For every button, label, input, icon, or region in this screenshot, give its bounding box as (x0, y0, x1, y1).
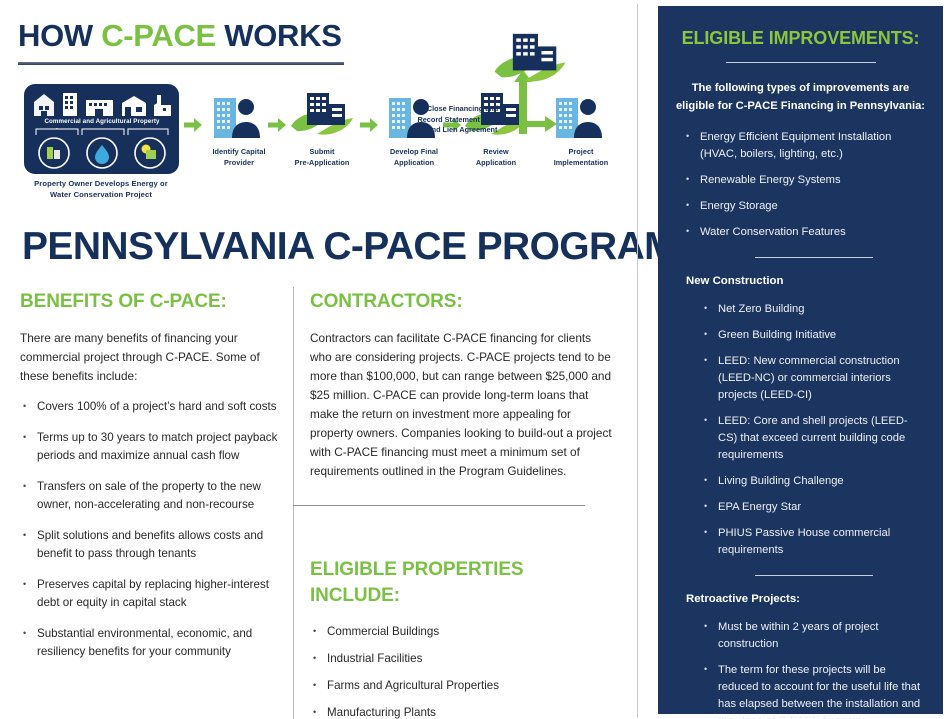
title-underline (18, 62, 344, 65)
list-item: Net Zero Building (704, 301, 925, 318)
building-person-icon (208, 90, 270, 142)
step-3-line2: Application (394, 158, 434, 167)
list-item: Manufacturing Plants (310, 704, 612, 719)
retroactive-heading: Retroactive Projects: (686, 593, 943, 605)
close-note-line3: and Lien Agreement (428, 125, 498, 134)
page-title-part2: WORKS (216, 18, 342, 53)
arrow-right-icon-1 (184, 118, 202, 132)
step-label-3: Develop Final Application (378, 147, 450, 168)
step-identify-capital-provider: Identify Capital Provider (203, 90, 275, 168)
list-item: Preserves capital by replacing higher-in… (20, 576, 278, 612)
list-item: The term for these projects will be redu… (704, 662, 925, 719)
step-label-1: Identify Capital Provider (203, 147, 275, 168)
new-construction-list: Net Zero Building Green Building Initiat… (704, 301, 925, 559)
list-item: Energy Storage (686, 198, 925, 215)
list-item: Industrial Facilities (310, 650, 612, 668)
eligible-properties-list: Commercial Buildings Industrial Faciliti… (310, 623, 612, 719)
step-2-line2: Pre-Application (295, 158, 350, 167)
step-4-line1: Review (483, 147, 508, 156)
property-owner-box: Commercial and Agricultural Property (24, 84, 179, 174)
panel-divider-3 (755, 575, 873, 576)
step-submit-pre-application: Submit Pre-Application (285, 88, 359, 168)
list-item: Split solutions and benefits allows cost… (20, 527, 278, 563)
list-item: Renewable Energy Systems (686, 172, 925, 189)
column-divider-vertical (293, 287, 294, 719)
contractors-heading: CONTRACTORS: (310, 290, 612, 314)
program-title: PENNSYLVANIA C-PACE PROGRAM (22, 225, 676, 269)
panel-divider-2 (755, 257, 873, 258)
list-item: Substantial environmental, economic, and… (20, 625, 278, 661)
list-item: Green Building Initiative (704, 327, 925, 344)
eligible-properties-heading: ELIGIBLE PROPERTIES INCLUDE: (310, 557, 560, 609)
infographic-page: HOW C-PACE WORKS (0, 0, 950, 719)
close-financing-note: Close Financing and Record Statement of … (395, 104, 530, 136)
benefits-heading: BENEFITS OF C-PACE: (20, 290, 278, 314)
list-item: Living Building Challenge (704, 473, 925, 490)
step-1-line1: Identify Capital (212, 147, 265, 156)
building-person-icon (550, 90, 612, 142)
arrow-right-icon-2 (268, 118, 286, 132)
close-note-line1: Close Financing and (427, 104, 498, 113)
step-label-2: Submit Pre-Application (285, 147, 359, 168)
buildings-label: Commercial and Agricultural Property (28, 118, 176, 125)
retroactive-list: Must be within 2 years of project constr… (704, 619, 925, 719)
owner-caption-line1: Property Owner Develops Energy or (34, 179, 168, 188)
step-label-4: Review Application (459, 147, 533, 168)
arrow-right-icon-3 (360, 118, 378, 132)
list-item: PHIUS Passive House commercial requireme… (704, 525, 925, 559)
column-divider-horizontal (293, 505, 585, 506)
process-flow-diagram: Commercial and Agricultural Property (0, 70, 637, 215)
list-item: Water Conservation Features (686, 224, 925, 241)
list-item: Commercial Buildings (310, 623, 612, 641)
step-2-line1: Submit (309, 147, 334, 156)
step-1-line2: Provider (224, 158, 254, 167)
benefits-intro: There are many benefits of financing you… (20, 329, 278, 386)
page-title: HOW C-PACE WORKS (18, 18, 342, 54)
benefits-list: Covers 100% of a project’s hard and soft… (20, 398, 278, 661)
conservation-cycle-icons (34, 136, 170, 170)
improvements-list: Energy Efficient Equipment Installation … (686, 129, 925, 241)
list-item: EPA Energy Star (704, 499, 925, 516)
panel-subtitle: The following types of improvements are … (672, 79, 929, 115)
list-item: LEED: New commercial construction (LEED-… (704, 353, 925, 404)
building-leaf-icon (287, 88, 357, 142)
step-5-line2: Implementation (554, 158, 609, 167)
eligible-improvements-panel: ELIGIBLE IMPROVEMENTS: The following typ… (658, 6, 943, 714)
step-5-line1: Project (568, 147, 593, 156)
panel-title: ELIGIBLE IMPROVEMENTS: (670, 28, 931, 49)
owner-caption: Property Owner Develops Energy or Water … (10, 178, 192, 200)
list-item: Terms up to 30 years to match project pa… (20, 429, 278, 465)
step-4-line2: Application (476, 158, 516, 167)
building-leaf-icon (490, 28, 570, 90)
list-item: LEED: Core and shell projects (LEED-CS) … (704, 413, 925, 464)
list-item: Covers 100% of a project’s hard and soft… (20, 398, 278, 416)
step-label-5: Project Implementation (542, 147, 620, 168)
list-item: Transfers on sale of the property to the… (20, 478, 278, 514)
main-content-area: HOW C-PACE WORKS (0, 0, 637, 719)
new-construction-heading: New Construction (686, 275, 943, 287)
panel-divider-1 (726, 62, 876, 63)
page-title-part1: HOW (18, 18, 101, 53)
close-note-line2: Record Statement of Levy (417, 115, 507, 124)
list-item: Must be within 2 years of project constr… (704, 619, 925, 653)
benefits-column: BENEFITS OF C-PACE: There are many benef… (20, 290, 278, 674)
property-building-icons (30, 91, 173, 117)
bracket-connectors (34, 128, 170, 135)
list-item: Farms and Agricultural Properties (310, 677, 612, 695)
page-title-accent: C-PACE (101, 18, 216, 53)
list-item: Energy Efficient Equipment Installation … (686, 129, 925, 163)
owner-caption-line2: Water Conservation Project (50, 190, 152, 199)
step-project-implementation: Project Implementation (542, 90, 620, 168)
contractors-paragraph: Contractors can facilitate C-PACE financ… (310, 329, 612, 481)
step-3-line1: Develop Final (390, 147, 438, 156)
page-divider-vertical (637, 4, 638, 717)
